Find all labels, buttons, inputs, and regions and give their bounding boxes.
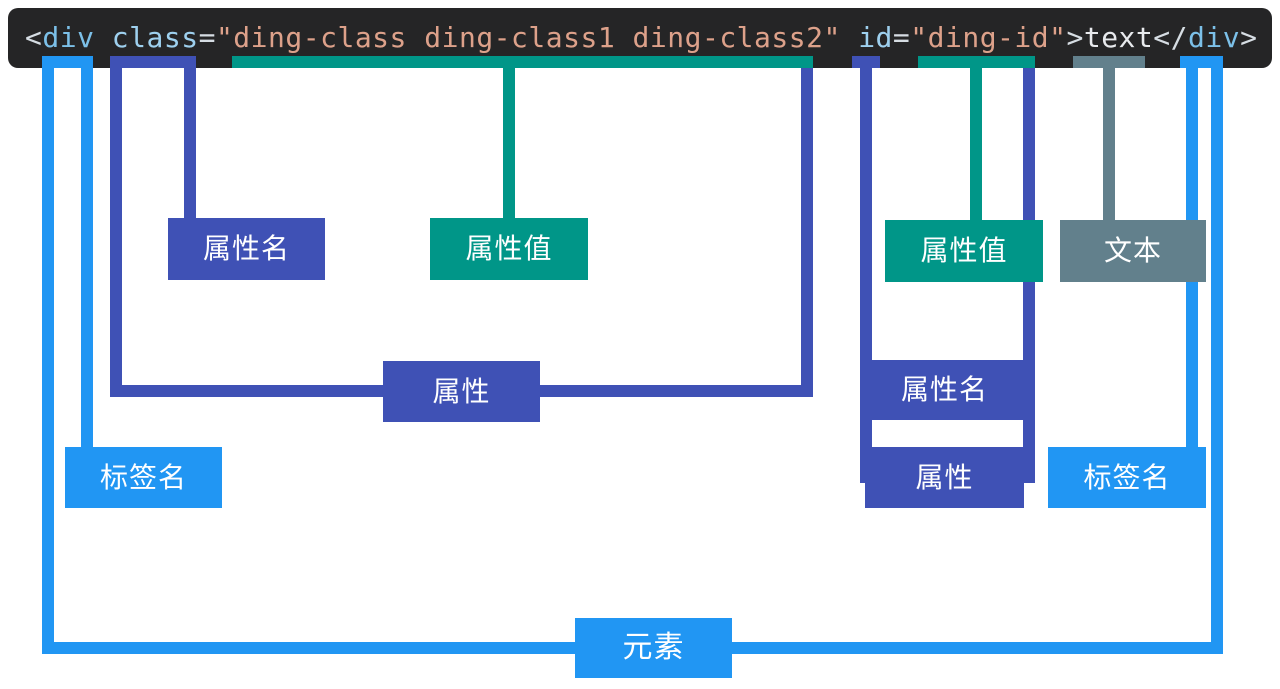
box-tag-name-left: 标签名: [65, 447, 222, 508]
box-attribute-right: 属性: [865, 447, 1024, 508]
box-label-attribute-value-right: 属性值: [920, 237, 1007, 265]
connector-lines: [0, 0, 1280, 689]
box-label-tag-name-left: 标签名: [100, 464, 187, 492]
box-attribute-left: 属性: [383, 361, 540, 422]
box-label-text: 文本: [1104, 237, 1162, 265]
underline-class-attr-name: [110, 56, 196, 68]
box-text: 文本: [1060, 220, 1206, 282]
underline-open-tag-name: [42, 56, 93, 68]
box-label-attribute-name-left: 属性名: [203, 235, 290, 263]
underline-id-value: [918, 56, 1035, 68]
wire-element-bracket: [48, 60, 1217, 648]
box-label-tag-name-right: 标签名: [1083, 464, 1170, 492]
box-attribute-value-right: 属性值: [885, 220, 1043, 282]
diagram-canvas: <div class="ding-class ding-class1 ding-…: [0, 0, 1280, 689]
underline-close-tag-name: [1180, 56, 1223, 68]
box-attribute-name-left: 属性名: [168, 218, 325, 280]
box-label-element: 元素: [623, 633, 685, 663]
underline-id-attr-name: [852, 56, 880, 68]
box-label-attribute-value-left: 属性值: [465, 235, 552, 263]
box-tag-name-right: 标签名: [1048, 447, 1206, 508]
underline-text: [1073, 56, 1145, 68]
box-label-attribute-left: 属性: [432, 378, 490, 406]
box-label-attribute-name-right: 属性名: [901, 376, 988, 404]
underline-class-value: [232, 56, 813, 68]
box-element: 元素: [575, 618, 732, 678]
box-attribute-name-right: 属性名: [865, 360, 1024, 420]
box-attribute-value-left: 属性值: [430, 218, 588, 280]
box-label-attribute-right: 属性: [915, 464, 973, 492]
